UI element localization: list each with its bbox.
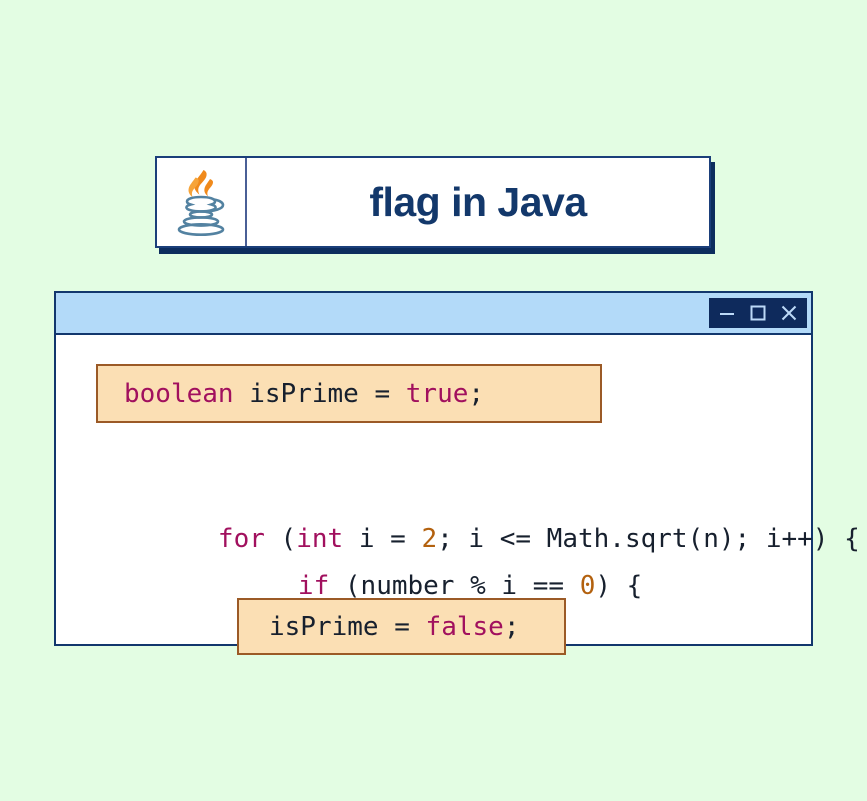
code-token: ) { bbox=[595, 571, 642, 601]
code-token: true bbox=[406, 381, 469, 407]
code-token: (number % i == bbox=[329, 571, 579, 601]
code-token: isPrime = bbox=[234, 381, 406, 407]
header-title-cell: flag in Java bbox=[247, 158, 709, 246]
close-icon[interactable] bbox=[778, 301, 800, 325]
minimize-icon[interactable] bbox=[716, 301, 738, 325]
code-editor-body: boolean isPrime = true; for (int i = 2; … bbox=[56, 335, 811, 644]
code-token: if bbox=[298, 571, 329, 601]
window-titlebar[interactable] bbox=[56, 293, 811, 335]
header-logo-cell bbox=[157, 158, 247, 246]
page-title: flag in Java bbox=[369, 182, 586, 223]
code-token: boolean bbox=[124, 381, 234, 407]
code-token: 0 bbox=[580, 571, 596, 601]
window-controls bbox=[709, 298, 807, 328]
code-line-highlighted-assignment: isPrime = false; bbox=[237, 598, 566, 655]
code-line-highlighted-declaration: boolean isPrime = true; bbox=[96, 364, 602, 423]
code-token: false bbox=[426, 614, 504, 640]
maximize-icon[interactable] bbox=[747, 301, 769, 325]
code-window: boolean isPrime = true; for (int i = 2; … bbox=[54, 291, 813, 646]
code-token: ; bbox=[504, 614, 520, 640]
code-token: isPrime = bbox=[269, 614, 426, 640]
java-coffee-cup-icon bbox=[170, 167, 232, 237]
header-banner: flag in Java bbox=[155, 156, 711, 248]
code-token: ; bbox=[468, 381, 484, 407]
